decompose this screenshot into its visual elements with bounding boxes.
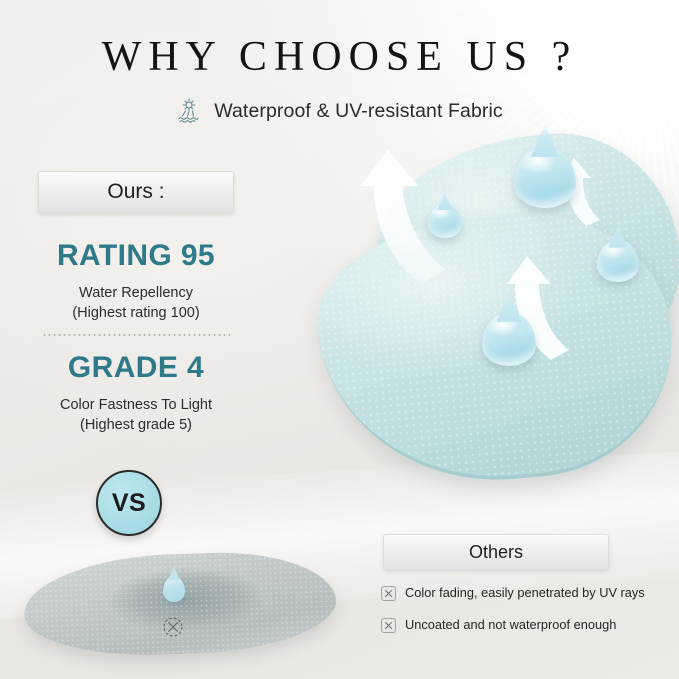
x-box-icon	[381, 586, 396, 601]
others-label-box: Others	[383, 534, 609, 570]
vs-badge: VS	[96, 470, 162, 536]
stat-divider	[42, 334, 230, 336]
stat-block-grade: GRADE 4 Color Fastness To Light (Highest…	[3, 352, 269, 436]
list-item: Uncoated and not waterproof enough	[381, 616, 671, 634]
uncoated-fabric-illustration	[16, 548, 346, 668]
sun-over-waves-icon	[176, 98, 202, 124]
page-title: WHY CHOOSE US ?	[0, 33, 679, 81]
water-droplet-2	[428, 204, 462, 238]
vs-badge-label: VS	[112, 489, 146, 518]
list-item: Color fading, easily penetrated by UV ra…	[381, 584, 671, 602]
absorbed-water-droplet	[163, 576, 185, 602]
stat-block-rating: RATING 95 Water Repellency (Highest rati…	[3, 240, 269, 324]
gray-fabric-sheet	[22, 549, 337, 660]
ours-label-box: Ours :	[38, 171, 234, 213]
subtitle-row: Waterproof & UV-resistant Fabric	[0, 98, 679, 124]
stat-caption-grade-line2: (Highest grade 5)	[3, 415, 269, 436]
list-item-text: Color fading, easily penetrated by UV ra…	[405, 584, 645, 602]
waterproof-fabric-illustration	[322, 132, 679, 484]
ours-label-text: Ours :	[107, 180, 164, 204]
x-box-icon	[381, 618, 396, 633]
circle-x-icon	[160, 614, 186, 640]
stat-headline-rating: RATING 95	[3, 240, 269, 272]
others-label-text: Others	[469, 542, 523, 563]
stat-caption-rating-line2: (Highest rating 100)	[3, 303, 269, 324]
stat-caption-grade-line1: Color Fastness To Light	[60, 397, 212, 413]
stat-caption-rating-line1: Water Repellency	[79, 285, 193, 301]
stat-headline-grade: GRADE 4	[3, 352, 269, 384]
infographic-page: WHY CHOOSE US ? Waterproof & UV-resistan…	[0, 0, 679, 679]
subtitle-text: Waterproof & UV-resistant Fabric	[214, 100, 503, 123]
stat-caption-grade: Color Fastness To Light (Highest grade 5…	[3, 395, 269, 436]
list-item-text: Uncoated and not waterproof enough	[405, 616, 616, 634]
stat-caption-rating: Water Repellency (Highest rating 100)	[3, 283, 269, 324]
others-drawback-list: Color fading, easily penetrated by UV ra…	[381, 584, 671, 647]
